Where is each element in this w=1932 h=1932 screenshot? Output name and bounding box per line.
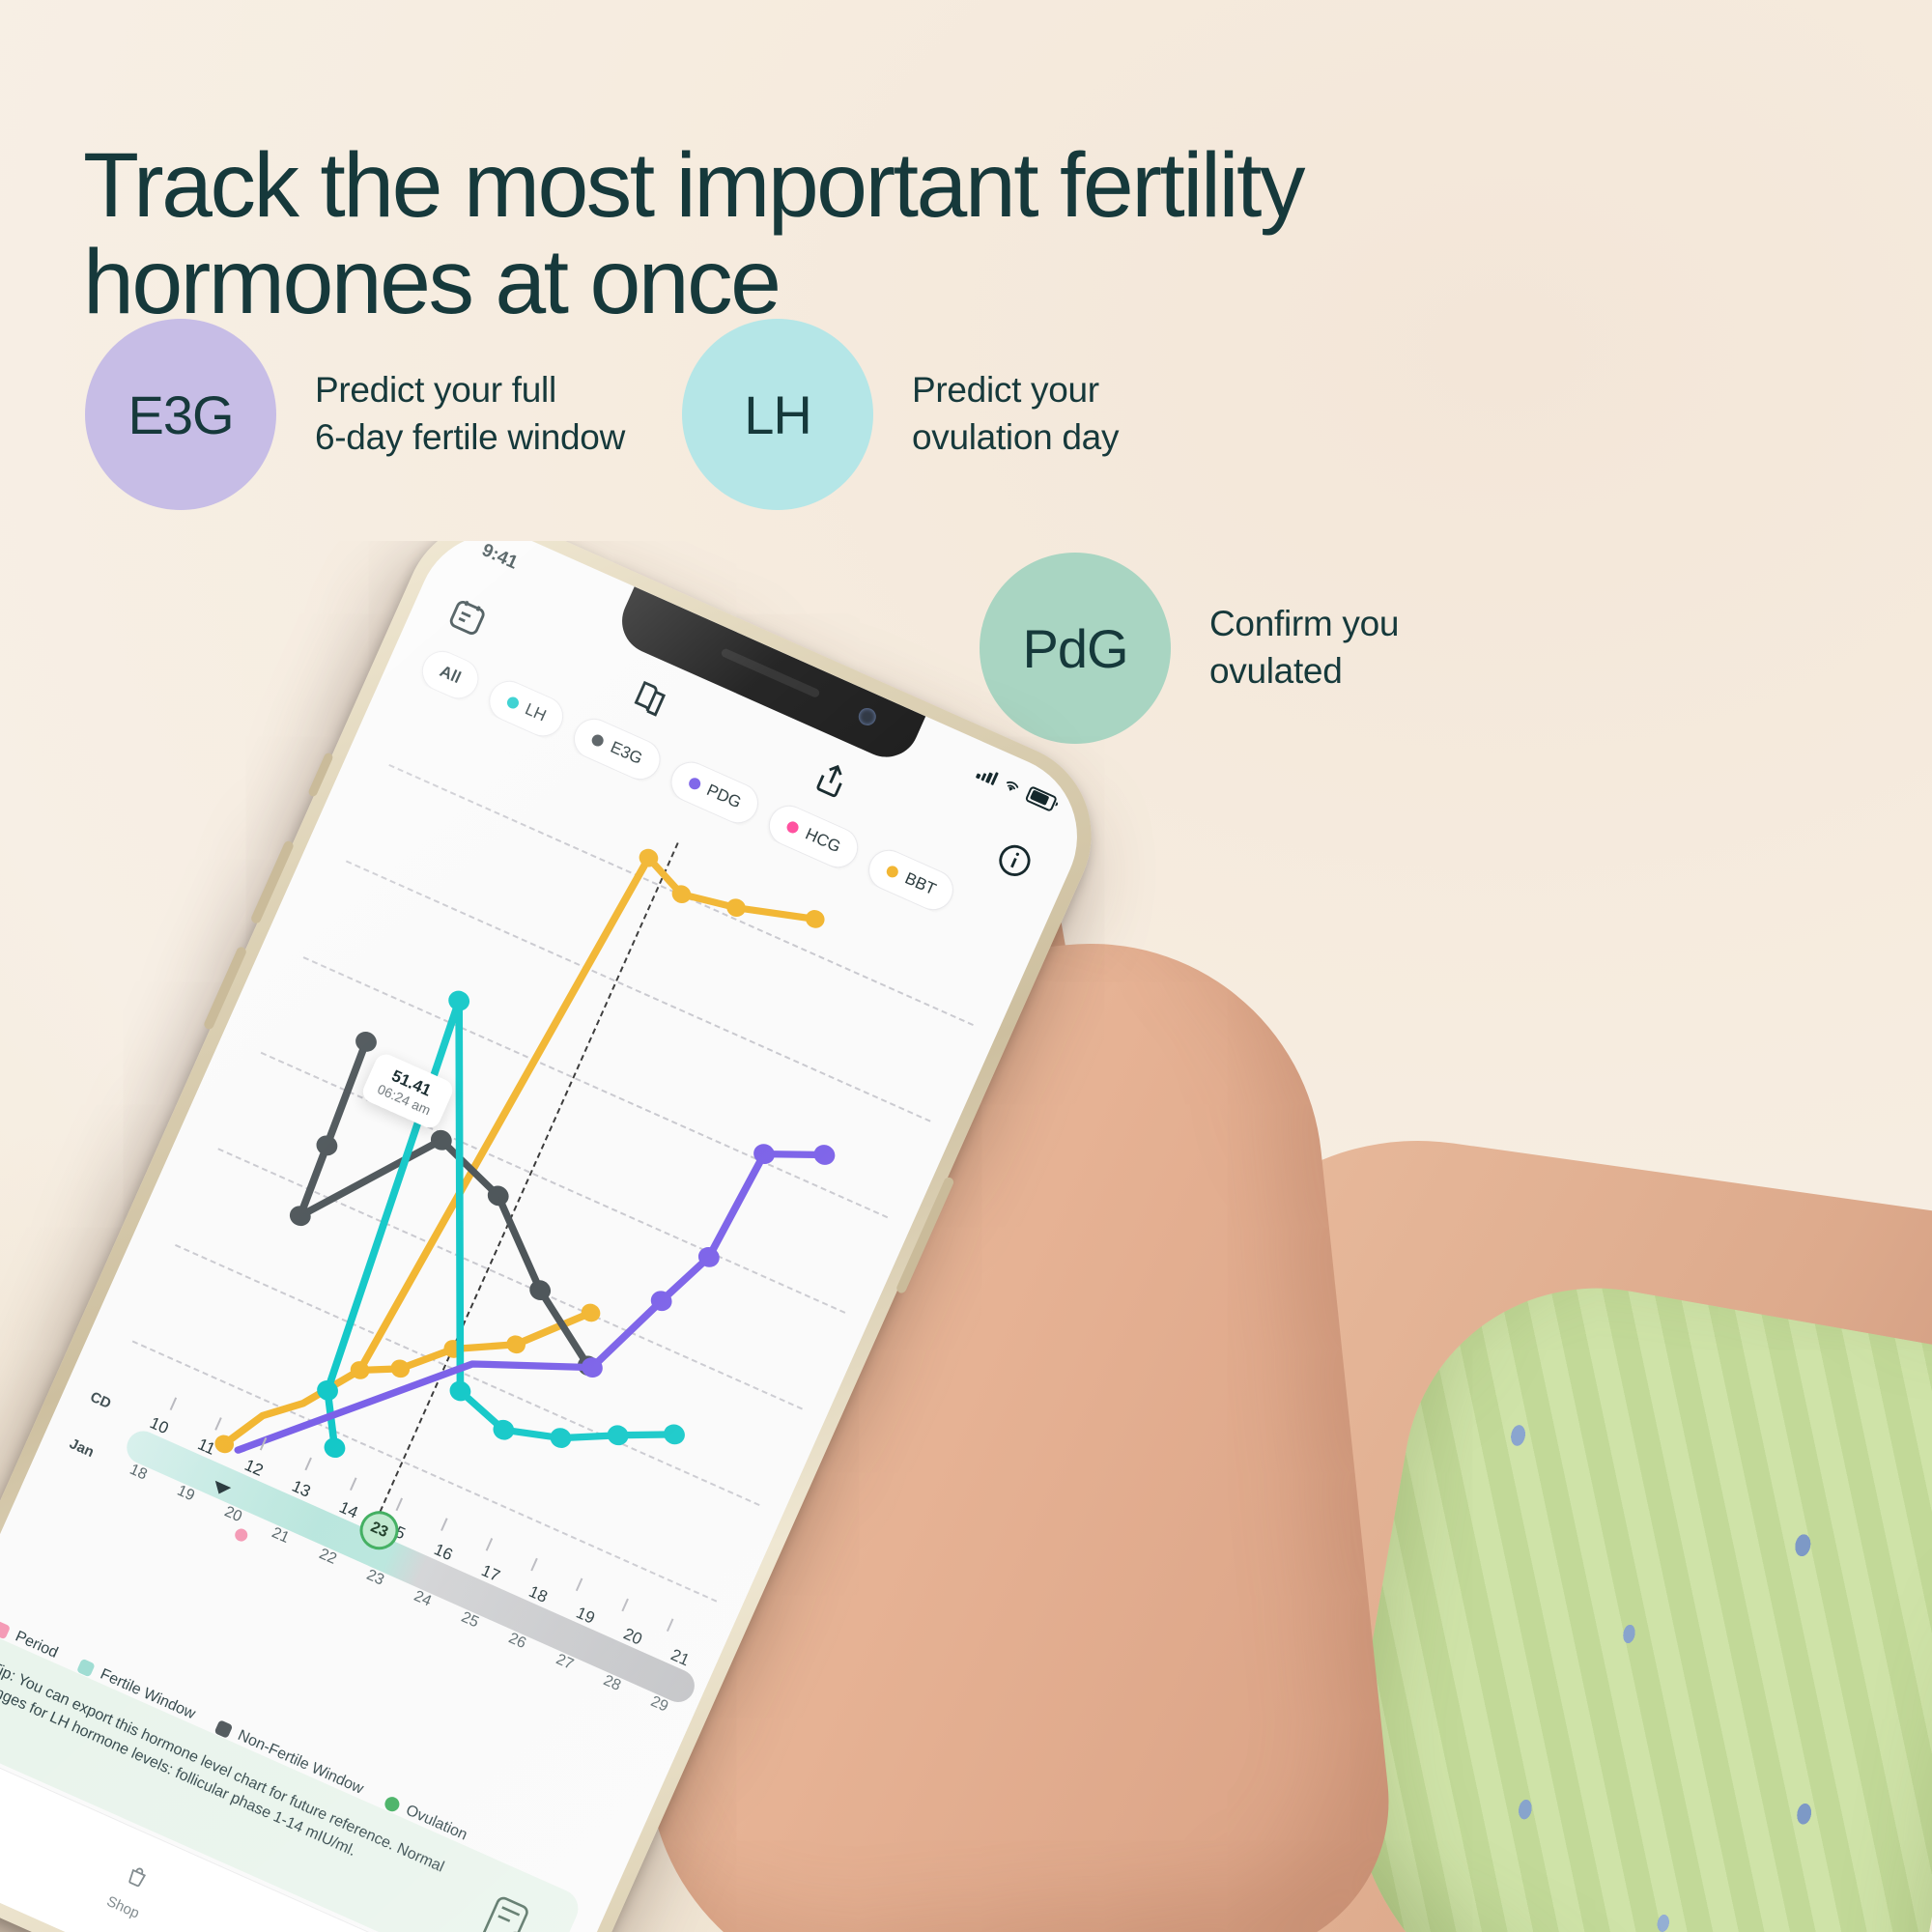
heart-icon xyxy=(272,1922,324,1932)
hand-holding-phone-photo: 9:41 xyxy=(0,541,1932,1932)
headline-line-2: hormones at once xyxy=(83,234,1590,331)
calendar-note-icon[interactable] xyxy=(442,591,494,642)
badge-e3g-description: Predict your full 6-day fertile window xyxy=(315,367,625,462)
status-time: 9:41 xyxy=(478,541,521,575)
chip-pdg-dot xyxy=(687,776,702,791)
chip-pdg-label: PDG xyxy=(703,781,744,812)
chip-hcg-dot xyxy=(785,820,801,836)
chip-bbt-label: BBT xyxy=(902,868,939,899)
tab-news[interactable]: News xyxy=(263,1922,324,1932)
badge-lh-circle: LH xyxy=(682,319,873,510)
shopping-bag-icon xyxy=(112,1850,163,1901)
book-icon[interactable] xyxy=(624,672,675,724)
test-kit-illustration xyxy=(458,1877,557,1932)
chip-hcg-label: HCG xyxy=(803,825,844,858)
tab-chart[interactable]: Chart xyxy=(0,1778,2,1851)
chip-lh-dot xyxy=(505,695,521,710)
tab-shop-label: Shop xyxy=(104,1892,142,1921)
front-camera-icon xyxy=(856,705,879,728)
tab-shop[interactable]: Shop xyxy=(102,1850,163,1922)
cellular-bars-icon xyxy=(976,764,999,785)
month-label: Jan xyxy=(67,1435,118,1470)
badge-lh: LH Predict your ovulation day xyxy=(682,319,1119,510)
chip-e3g-dot xyxy=(590,733,606,749)
badge-e3g: E3G Predict your full 6-day fertile wind… xyxy=(85,319,625,510)
info-icon[interactable] xyxy=(989,835,1040,886)
chip-all-label: All xyxy=(437,662,464,688)
chip-bbt-dot xyxy=(885,865,900,880)
cd-label: CD xyxy=(88,1388,139,1423)
battery-icon xyxy=(1025,785,1058,812)
legend-period-swatch xyxy=(0,1620,11,1639)
badge-lh-description: Predict your ovulation day xyxy=(912,367,1119,462)
page-title: Track the most important fertility hormo… xyxy=(83,137,1590,331)
wifi-icon xyxy=(1001,775,1024,796)
share-icon[interactable] xyxy=(807,753,858,805)
badge-e3g-circle: E3G xyxy=(85,319,276,510)
chip-e3g-label: E3G xyxy=(608,738,645,769)
bar-chart-icon xyxy=(0,1778,2,1830)
chip-lh-label: LH xyxy=(522,699,549,725)
headline-line-1: Track the most important fertility xyxy=(83,137,1590,235)
